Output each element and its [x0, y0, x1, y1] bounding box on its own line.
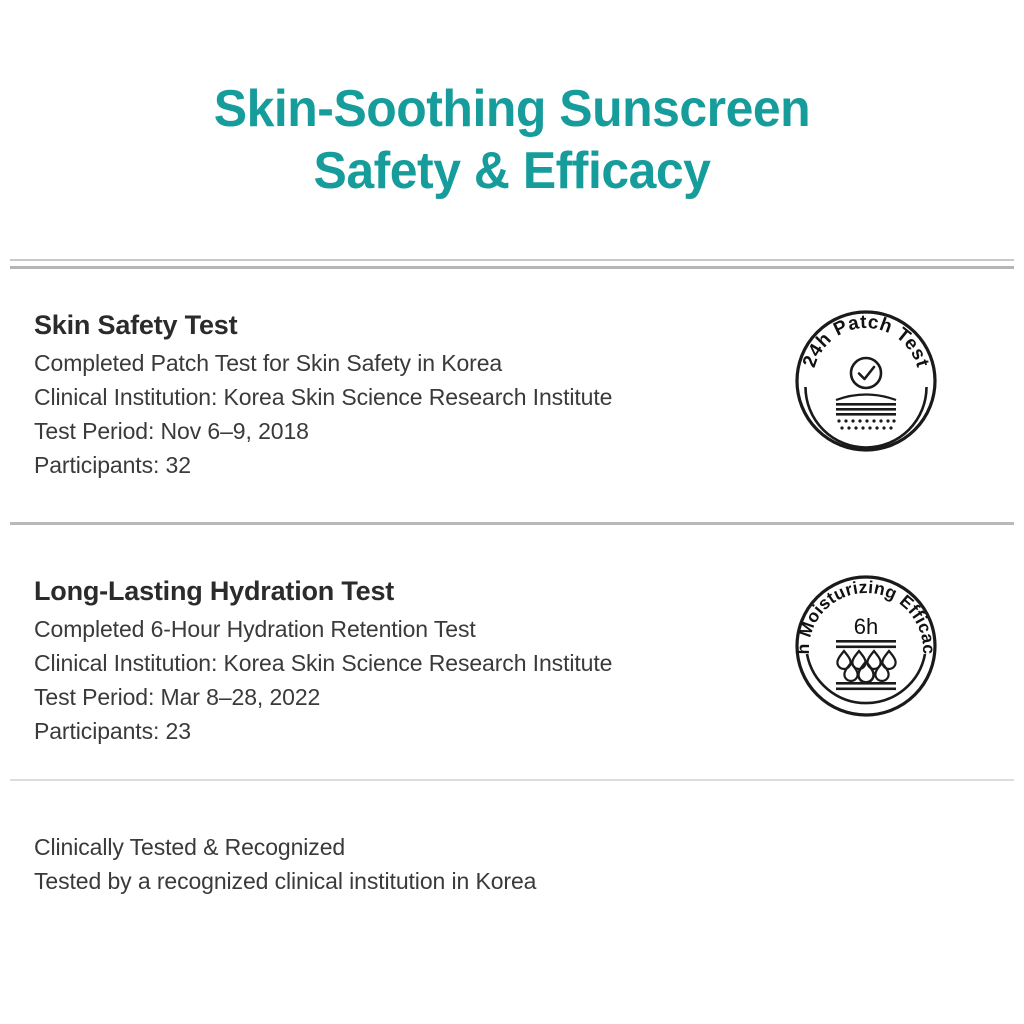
moisturizing-efficacy-seal-icon: 6h Moisturizing Efficacy 6h [792, 572, 940, 720]
badge-center-label: 6h [854, 614, 878, 639]
divider-top [10, 259, 1014, 269]
product-detail-page: Skin-Soothing Sunscreen Safety & Efficac… [0, 0, 1024, 1024]
page-title-line-1: Skin-Soothing Sunscreen [20, 78, 1003, 140]
divider-middle [10, 522, 1014, 525]
footer-line-institution-note: Tested by a recognized clinical institut… [34, 864, 934, 898]
footer-line-clinically-tested: Clinically Tested & Recognized [34, 830, 934, 864]
page-title: Skin-Soothing Sunscreen Safety & Efficac… [0, 78, 1024, 202]
svg-text:24h Patch Test: 24h Patch Test [799, 312, 933, 370]
footer-recognition-block: Clinically Tested & Recognized Tested by… [34, 830, 934, 898]
page-title-line-2: Safety & Efficacy [20, 140, 1003, 202]
divider-bottom [10, 779, 1014, 781]
patch-test-seal-icon: 24h Patch Test [792, 307, 940, 455]
